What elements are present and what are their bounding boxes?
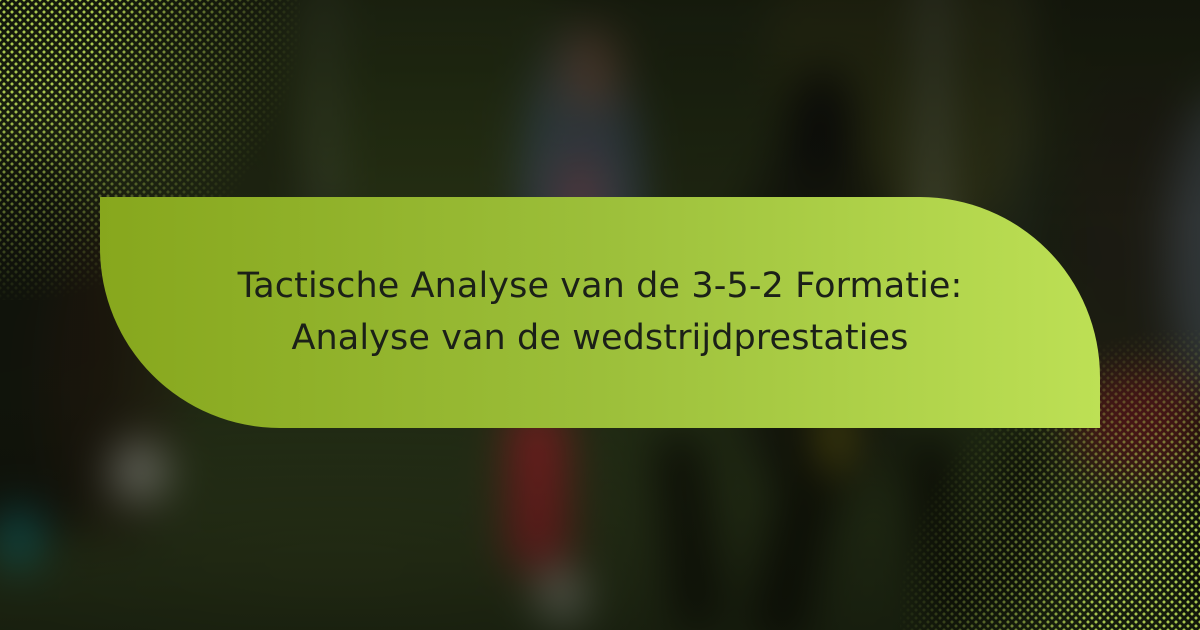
page-title-line-1: Tactische Analyse van de 3-5-2 Formatie: (238, 261, 963, 313)
title-banner: Tactische Analyse van de 3-5-2 Formatie:… (100, 197, 1100, 428)
page-title: Tactische Analyse van de 3-5-2 Formatie:… (198, 261, 1003, 365)
share-card-canvas: Tactische Analyse van de 3-5-2 Formatie:… (0, 0, 1200, 630)
page-title-line-2: Analyse van de wedstrijdprestaties (238, 313, 963, 365)
